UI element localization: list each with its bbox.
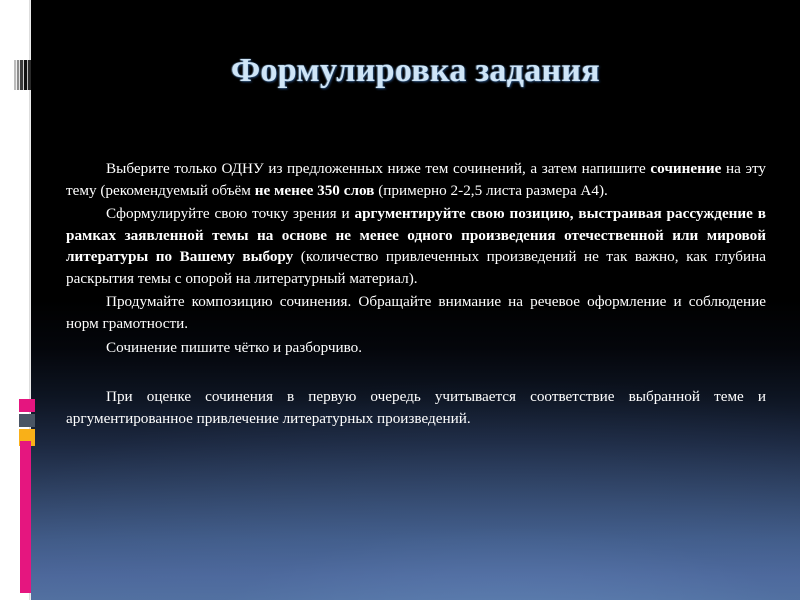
body-paragraph: Продумайте композицию сочинения. Обращай… — [66, 291, 766, 334]
body-paragraph: Выберите только ОДНУ из предложенных ниж… — [66, 158, 766, 201]
text-run: Сформулируйте свою точку зрения и — [106, 205, 355, 222]
body-paragraph: Сочинение пишите чётко и разборчиво. — [66, 337, 766, 359]
text-run: (примерно 2-2,5 листа размера А4). — [374, 182, 607, 199]
slide-title: Формулировка задания — [31, 52, 800, 90]
bold-text-run: не менее 350 слов — [255, 182, 375, 199]
text-run: Сочинение пишите чётко и разборчиво. — [106, 339, 362, 356]
vertical-stripes-icon — [14, 60, 31, 90]
slide-body: Выберите только ОДНУ из предложенных ниж… — [66, 158, 766, 431]
text-run: Продумайте композицию сочинения. Обращай… — [66, 293, 766, 332]
body-paragraph: При оценке сочинения в первую очередь уч… — [66, 386, 766, 429]
body-paragraph: Сформулируйте свою точку зрения и аргуме… — [66, 203, 766, 289]
text-run: Выберите только ОДНУ из предложенных ниж… — [106, 160, 650, 177]
pink-vertical-bar — [20, 441, 31, 593]
slate-swatch — [19, 414, 35, 427]
pink-swatch — [19, 399, 35, 412]
bold-text-run: сочинение — [650, 160, 721, 177]
text-run: При оценке сочинения в первую очередь уч… — [66, 388, 766, 427]
presentation-slide: Формулировка задания Выберите только ОДН… — [0, 0, 800, 600]
